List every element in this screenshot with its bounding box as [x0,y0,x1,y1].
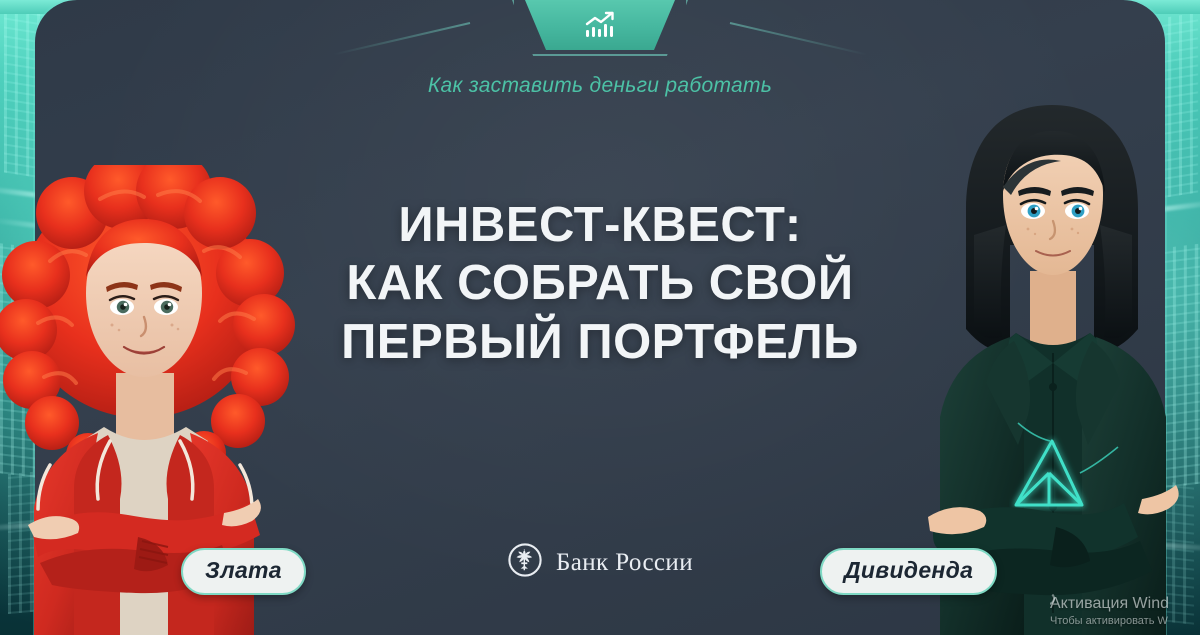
notch-wing-right [730,22,867,55]
double-headed-eagle-icon [507,542,543,583]
bank-of-russia-logo: Банк России [507,542,693,583]
top-notch-container [0,0,1200,60]
bar-chart-growth-icon [583,10,617,45]
windows-activation-watermark: Активация Wind Чтобы активировать W [1050,594,1200,629]
notch-wing-left [333,22,470,55]
bank-name-label: Банк России [556,549,693,577]
watermark-title: Активация Wind [1050,594,1200,614]
watermark-subtitle: Чтобы активировать W [1050,614,1200,629]
badge-dividenda[interactable]: Дивиденда [820,548,997,595]
badge-zlata[interactable]: Злата [181,548,306,595]
